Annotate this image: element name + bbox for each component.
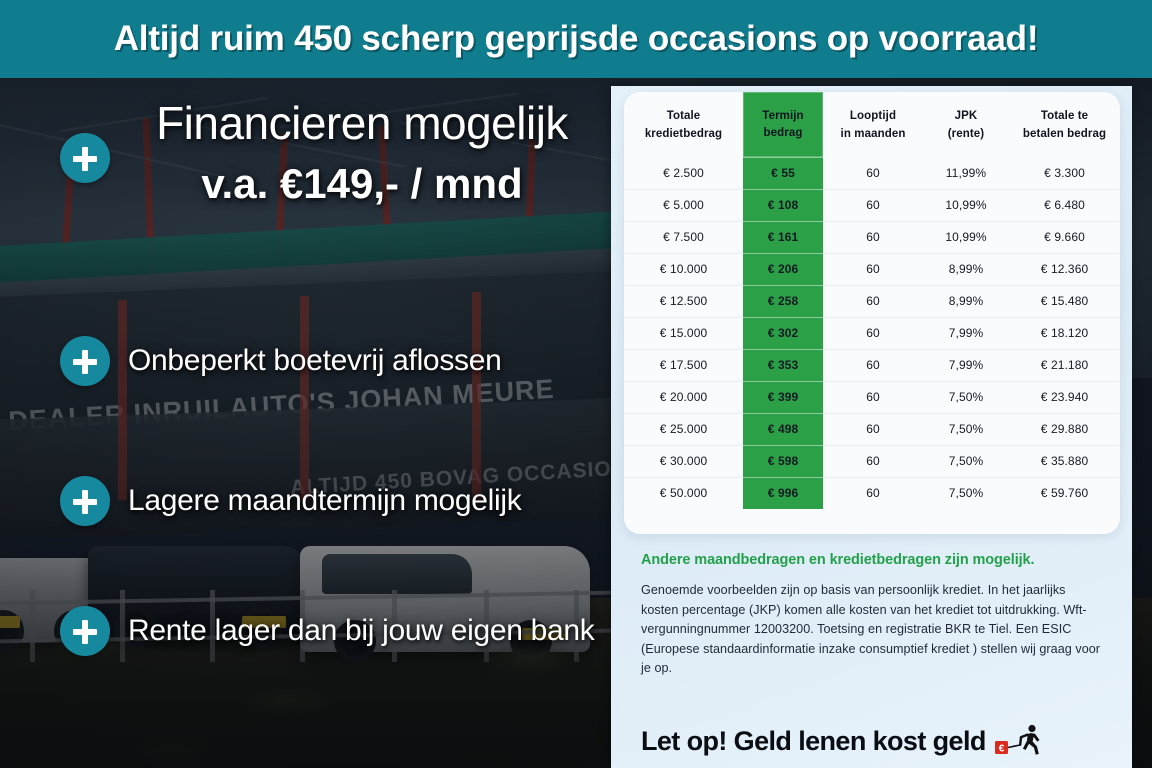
header-line: Looptijd xyxy=(850,110,896,122)
plus-icon xyxy=(60,606,110,656)
cell-totaal: € 21.180 xyxy=(1009,349,1120,381)
cell-looptijd: 60 xyxy=(823,253,923,285)
cell-totaal: € 23.940 xyxy=(1009,381,1120,413)
cell-looptijd: 60 xyxy=(823,349,923,381)
table-row: € 2.500€ 556011,99%€ 3.300 xyxy=(624,157,1120,189)
hero-bullet xyxy=(60,133,110,183)
table-row: € 10.000€ 206608,99%€ 12.360 xyxy=(624,253,1120,285)
table-row: € 7.500€ 1616010,99%€ 9.660 xyxy=(624,221,1120,253)
hero-headline-line2: v.a. €149,- / mnd xyxy=(112,160,612,208)
table-row: € 30.000€ 598607,50%€ 35.880 xyxy=(624,445,1120,477)
header-line: Termijn xyxy=(762,110,803,122)
cell-termijnbedrag: € 498 xyxy=(743,413,823,445)
plus-icon xyxy=(60,133,110,183)
cell-termijnbedrag: € 353 xyxy=(743,349,823,381)
cell-looptijd: 60 xyxy=(823,221,923,253)
cell-totaal: € 59.760 xyxy=(1009,477,1120,509)
cell-kredietbedrag: € 20.000 xyxy=(624,381,743,413)
feature-bullet-3: Rente lager dan bij jouw eigen bank xyxy=(60,606,595,656)
financing-panel: Totale kredietbedrag Termijn bedrag Loop… xyxy=(611,86,1132,768)
cell-looptijd: 60 xyxy=(823,157,923,189)
column-header-termijn-bedrag: Termijn bedrag xyxy=(743,92,823,157)
cell-totaal: € 18.120 xyxy=(1009,317,1120,349)
cell-jpk: 7,50% xyxy=(923,413,1009,445)
cell-looptijd: 60 xyxy=(823,317,923,349)
left-content-column: Financieren mogelijk v.a. €149,- / mnd O… xyxy=(0,78,612,768)
table-header-row: Totale kredietbedrag Termijn bedrag Loop… xyxy=(624,92,1120,157)
disclaimer-title: Andere maandbedragen en kredietbedragen … xyxy=(641,552,1103,568)
cell-looptijd: 60 xyxy=(823,285,923,317)
hero-headline-line1: Financieren mogelijk xyxy=(112,96,612,150)
cell-termijnbedrag: € 108 xyxy=(743,189,823,221)
rate-table: Totale kredietbedrag Termijn bedrag Loop… xyxy=(624,92,1120,509)
cell-kredietbedrag: € 17.500 xyxy=(624,349,743,381)
table-row: € 12.500€ 258608,99%€ 15.480 xyxy=(624,285,1120,317)
rate-table-card: Totale kredietbedrag Termijn bedrag Loop… xyxy=(624,92,1120,534)
cell-termijnbedrag: € 161 xyxy=(743,221,823,253)
cell-jpk: 10,99% xyxy=(923,189,1009,221)
cell-jpk: 11,99% xyxy=(923,157,1009,189)
table-row: € 25.000€ 498607,50%€ 29.880 xyxy=(624,413,1120,445)
svg-text:€: € xyxy=(998,744,1004,755)
cell-jpk: 7,50% xyxy=(923,477,1009,509)
cell-termijnbedrag: € 996 xyxy=(743,477,823,509)
feature-bullet-2: Lagere maandtermijn mogelijk xyxy=(60,476,521,526)
cell-jpk: 7,50% xyxy=(923,381,1009,413)
cell-kredietbedrag: € 12.500 xyxy=(624,285,743,317)
rate-table-body: € 2.500€ 556011,99%€ 3.300 € 5.000€ 1086… xyxy=(624,157,1120,509)
header-line: JPK xyxy=(955,110,978,122)
cell-termijnbedrag: € 206 xyxy=(743,253,823,285)
column-header-looptijd: Looptijd in maanden xyxy=(823,92,923,157)
header-line: Totale xyxy=(667,110,701,122)
cell-looptijd: 60 xyxy=(823,413,923,445)
feature-bullet-2-label: Lagere maandtermijn mogelijk xyxy=(128,484,521,518)
table-row: € 20.000€ 399607,50%€ 23.940 xyxy=(624,381,1120,413)
cell-kredietbedrag: € 30.000 xyxy=(624,445,743,477)
cell-kredietbedrag: € 25.000 xyxy=(624,413,743,445)
cell-kredietbedrag: € 2.500 xyxy=(624,157,743,189)
banner-headline: Altijd ruim 450 scherp geprijsde occasio… xyxy=(114,19,1039,59)
plus-icon xyxy=(60,336,110,386)
column-header-totale-te-betalen: Totale te betalen bedrag xyxy=(1009,92,1120,157)
cell-totaal: € 35.880 xyxy=(1009,445,1120,477)
cell-jpk: 7,99% xyxy=(923,317,1009,349)
cell-looptijd: 60 xyxy=(823,477,923,509)
table-row: € 5.000€ 1086010,99%€ 6.480 xyxy=(624,189,1120,221)
cell-jpk: 7,99% xyxy=(923,349,1009,381)
cell-looptijd: 60 xyxy=(823,445,923,477)
header-line: (rente) xyxy=(948,128,984,140)
afm-running-man-icon: € xyxy=(994,724,1046,758)
cell-jpk: 8,99% xyxy=(923,253,1009,285)
header-line: kredietbedrag xyxy=(645,128,722,140)
plus-icon xyxy=(60,476,110,526)
cell-totaal: € 29.880 xyxy=(1009,413,1120,445)
credit-warning-text: Let op! Geld lenen kost geld xyxy=(641,726,986,757)
hero-block: Financieren mogelijk v.a. €149,- / mnd xyxy=(112,96,612,208)
cell-termijnbedrag: € 399 xyxy=(743,381,823,413)
cell-totaal: € 3.300 xyxy=(1009,157,1120,189)
feature-bullet-1: Onbeperkt boetevrij aflossen xyxy=(60,336,502,386)
cell-kredietbedrag: € 10.000 xyxy=(624,253,743,285)
cell-kredietbedrag: € 15.000 xyxy=(624,317,743,349)
cell-totaal: € 15.480 xyxy=(1009,285,1120,317)
cell-kredietbedrag: € 50.000 xyxy=(624,477,743,509)
cell-kredietbedrag: € 7.500 xyxy=(624,221,743,253)
header-line: bedrag xyxy=(764,127,803,139)
cell-jpk: 8,99% xyxy=(923,285,1009,317)
cell-kredietbedrag: € 5.000 xyxy=(624,189,743,221)
table-row: € 15.000€ 302607,99%€ 18.120 xyxy=(624,317,1120,349)
cell-termijnbedrag: € 598 xyxy=(743,445,823,477)
feature-bullet-3-label: Rente lager dan bij jouw eigen bank xyxy=(128,614,595,648)
table-row: € 17.500€ 353607,99%€ 21.180 xyxy=(624,349,1120,381)
cell-termijnbedrag: € 55 xyxy=(743,157,823,189)
cell-jpk: 10,99% xyxy=(923,221,1009,253)
header-line: Totale te xyxy=(1041,110,1088,122)
credit-warning-row: Let op! Geld lenen kost geld € xyxy=(641,724,1111,758)
cell-jpk: 7,50% xyxy=(923,445,1009,477)
cell-looptijd: 60 xyxy=(823,381,923,413)
column-header-totale-kredietbedrag: Totale kredietbedrag xyxy=(624,92,743,157)
header-line: betalen bedrag xyxy=(1023,128,1106,140)
cell-termijnbedrag: € 258 xyxy=(743,285,823,317)
disclaimer-body: Genoemde voorbeelden zijn op basis van p… xyxy=(641,581,1103,679)
feature-bullet-1-label: Onbeperkt boetevrij aflossen xyxy=(128,344,502,378)
top-banner: Altijd ruim 450 scherp geprijsde occasio… xyxy=(0,0,1152,78)
header-line: in maanden xyxy=(841,128,906,140)
column-header-jpk: JPK (rente) xyxy=(923,92,1009,157)
disclaimer-block: Andere maandbedragen en kredietbedragen … xyxy=(641,552,1103,679)
table-row: € 50.000€ 996607,50%€ 59.760 xyxy=(624,477,1120,509)
cell-totaal: € 6.480 xyxy=(1009,189,1120,221)
cell-looptijd: 60 xyxy=(823,189,923,221)
cell-totaal: € 9.660 xyxy=(1009,221,1120,253)
cell-totaal: € 12.360 xyxy=(1009,253,1120,285)
cell-termijnbedrag: € 302 xyxy=(743,317,823,349)
